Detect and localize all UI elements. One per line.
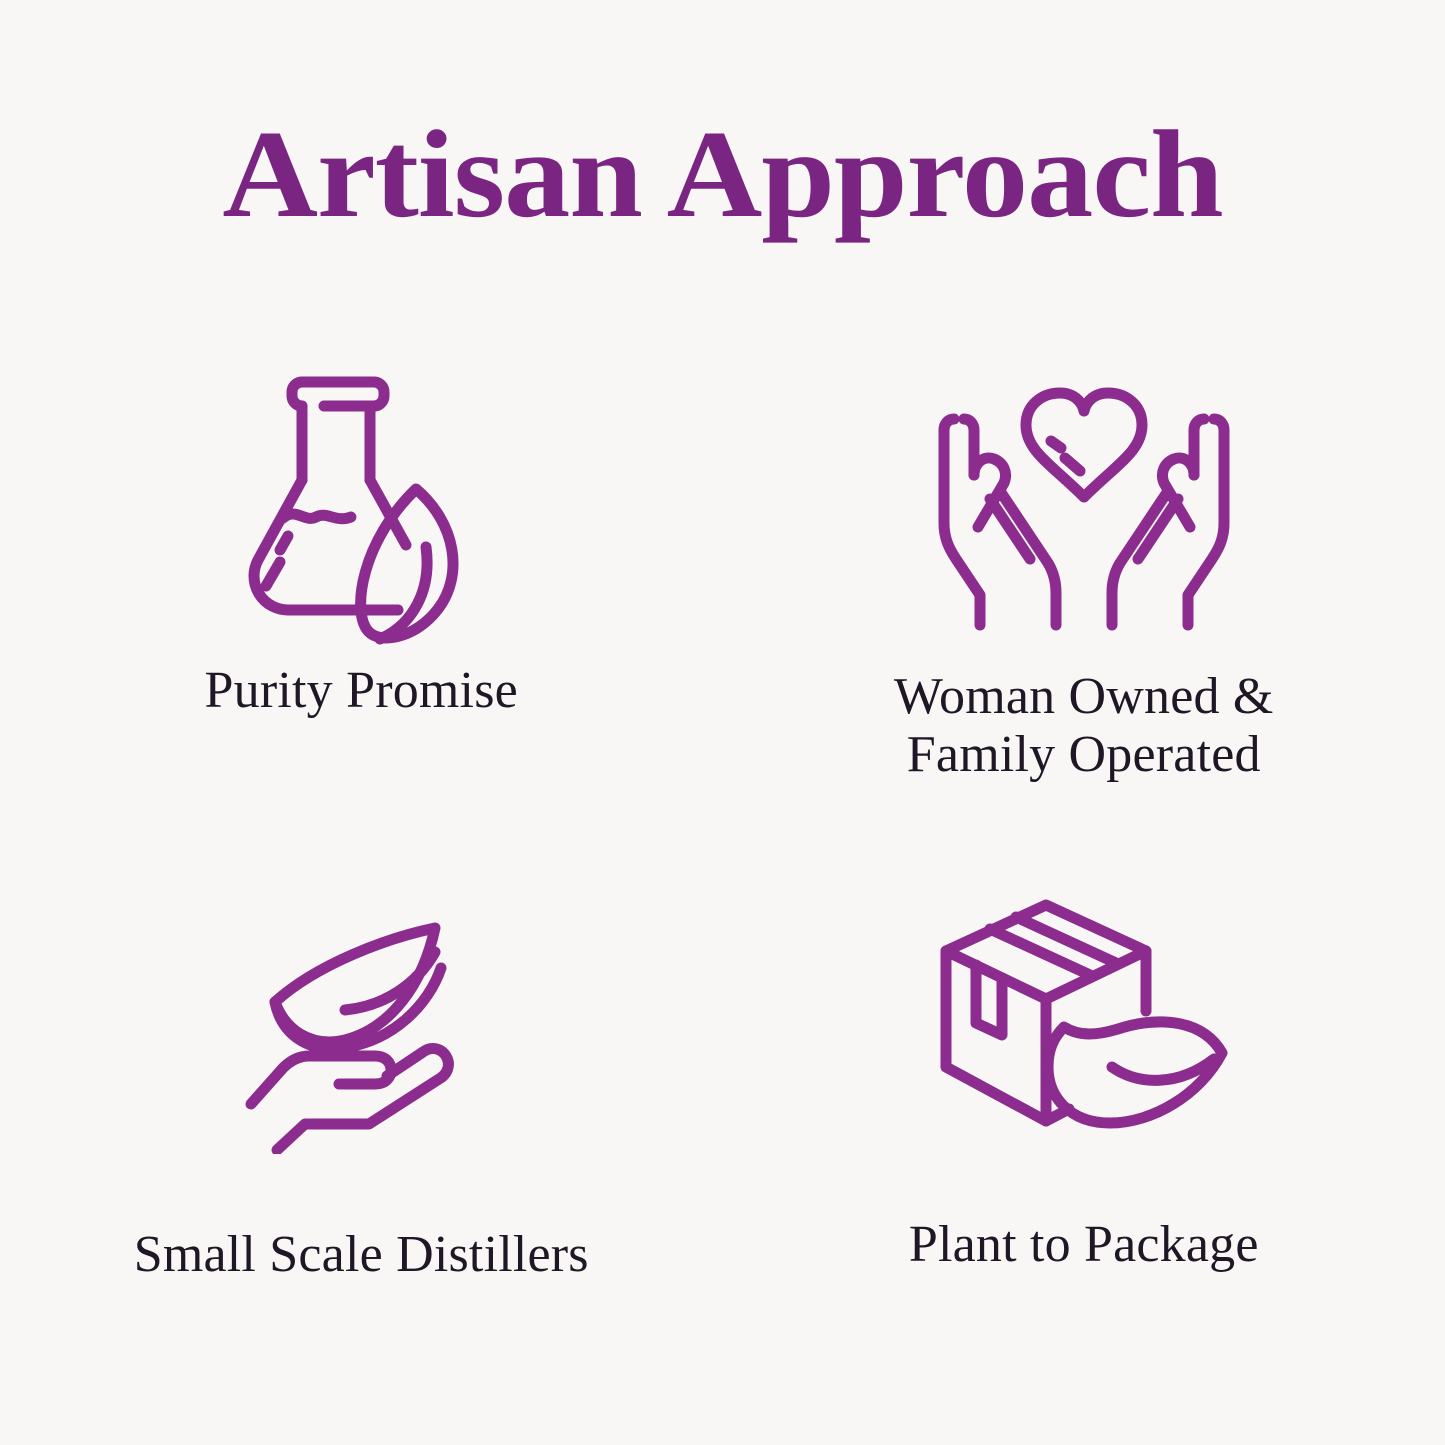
- feature-label: Purity Promise: [205, 662, 518, 720]
- feature-item-purity-promise: Purity Promise: [0, 330, 723, 840]
- hands-holding-heart-icon: [934, 330, 1234, 656]
- feature-label: Woman Owned & Family Operated: [894, 668, 1274, 784]
- flask-leaf-icon: [236, 330, 486, 652]
- page-title: Artisan Approach: [0, 108, 1445, 243]
- feature-label: Plant to Package: [909, 1216, 1259, 1274]
- feature-item-plant-to-package: Plant to Package: [723, 840, 1445, 1350]
- hand-holding-leaf-icon: [237, 840, 485, 1180]
- feature-grid: Purity Promise: [0, 330, 1445, 1350]
- feature-label: Small Scale Distillers: [134, 1226, 589, 1284]
- artisan-approach-panel: Artisan Approach: [0, 0, 1445, 1445]
- feature-item-woman-owned: Woman Owned & Family Operated: [723, 330, 1445, 840]
- feature-item-small-scale-distillers: Small Scale Distillers: [0, 840, 723, 1350]
- box-leaf-icon: [934, 840, 1234, 1170]
